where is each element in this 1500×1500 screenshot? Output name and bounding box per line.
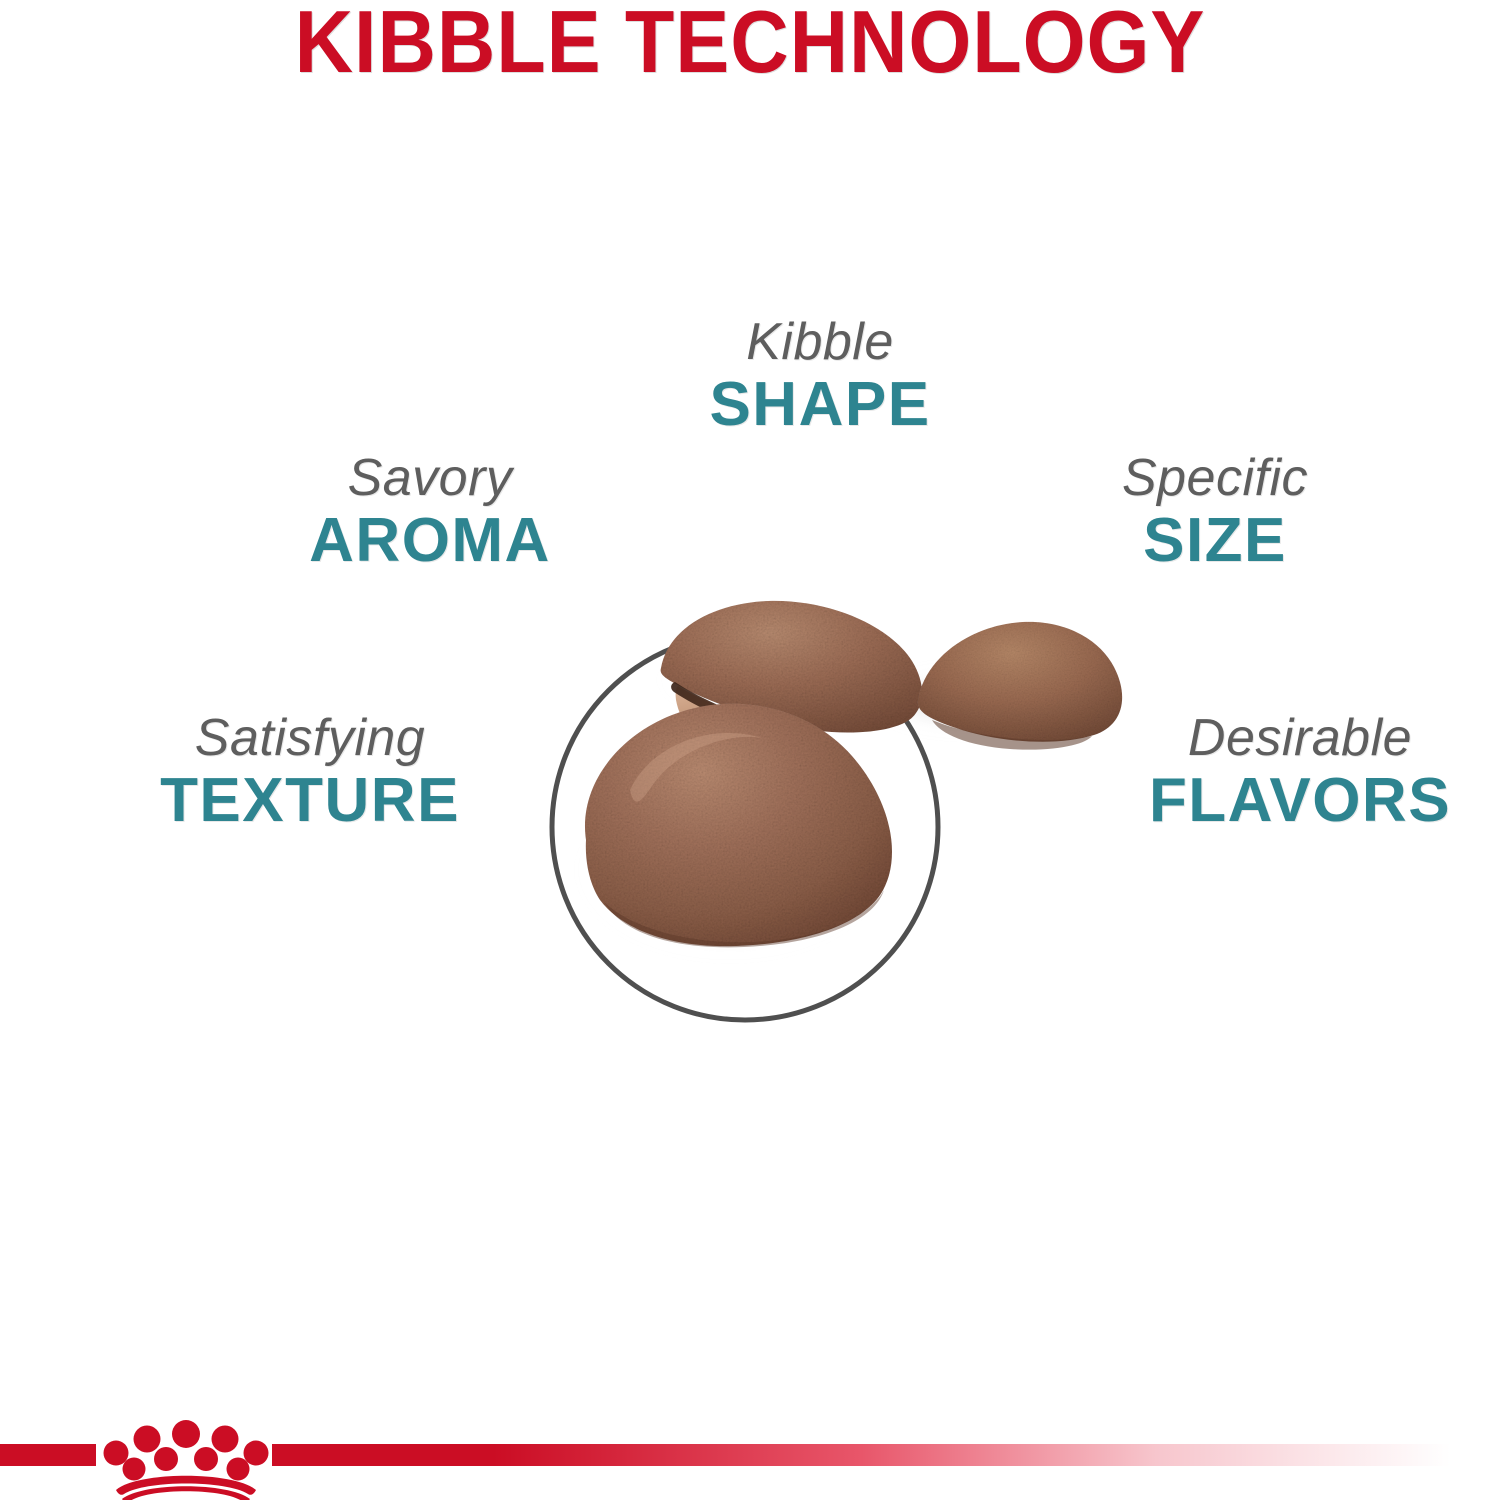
feature-adjective: Specific: [1050, 452, 1380, 504]
feature-adjective: Desirable: [1100, 712, 1500, 764]
footer-rule-left: [0, 1444, 96, 1466]
footer-rule-right: [272, 1444, 1500, 1466]
kibble-main: [585, 704, 892, 948]
feature-noun: AROMA: [240, 510, 620, 572]
feature-specific-size: Specific SIZE: [1050, 452, 1380, 572]
feature-satisfying-texture: Satisfying TEXTURE: [110, 712, 510, 832]
feature-kibble-shape: Kibble SHAPE: [600, 316, 1040, 436]
kibble-illustration: [500, 540, 1160, 1060]
page-canvas: KIBBLE TECHNOLOGY: [0, 0, 1500, 1500]
page-title: KIBBLE TECHNOLOGY: [60, 0, 1440, 88]
footer-brand-bar: [0, 1414, 1500, 1500]
feature-adjective: Savory: [240, 452, 620, 504]
feature-savory-aroma: Savory AROMA: [240, 452, 620, 572]
feature-noun: TEXTURE: [110, 770, 510, 832]
feature-desirable-flavors: Desirable FLAVORS: [1100, 712, 1500, 832]
feature-adjective: Kibble: [600, 316, 1040, 368]
feature-noun: SIZE: [1050, 510, 1380, 572]
feature-noun: SHAPE: [600, 374, 1040, 436]
royal-canin-crown-icon: [96, 1414, 276, 1500]
feature-adjective: Satisfying: [110, 712, 510, 764]
feature-noun: FLAVORS: [1100, 770, 1500, 832]
kibble-top-right: [918, 622, 1122, 750]
